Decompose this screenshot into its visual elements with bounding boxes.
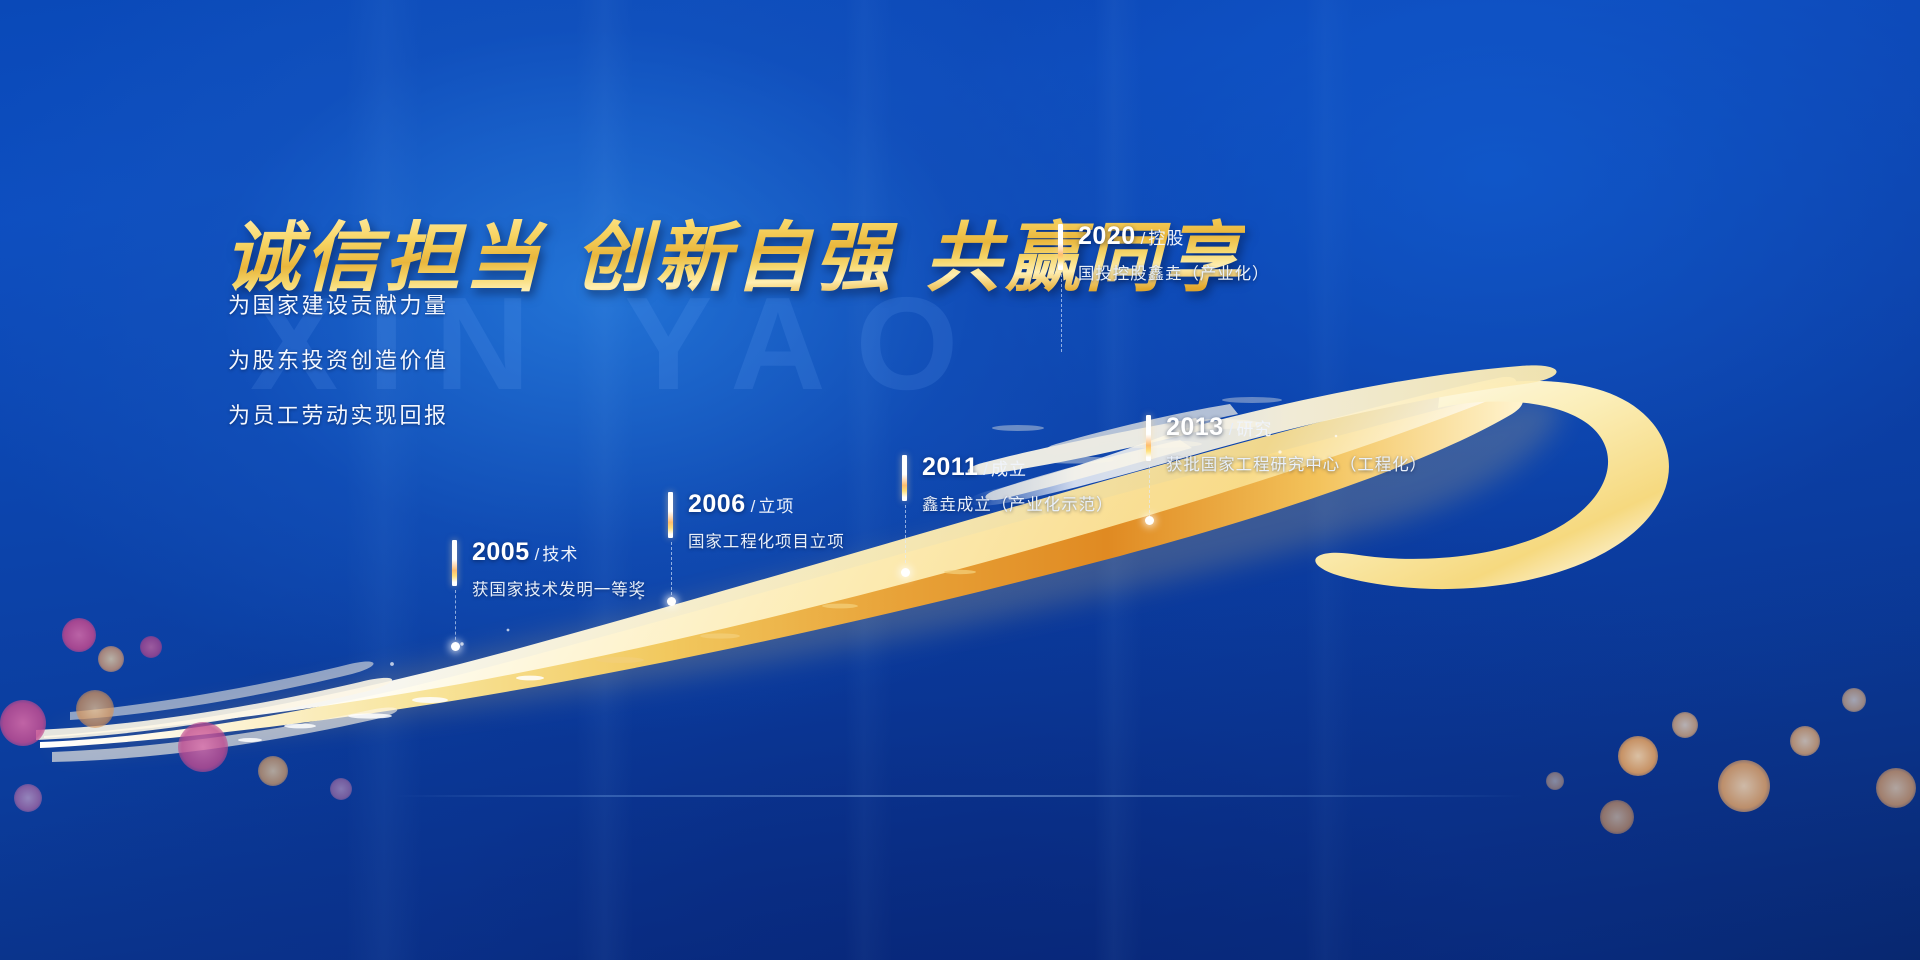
milestone-year: 2011	[922, 453, 978, 481]
milestone-accent-bar	[668, 492, 673, 538]
timeline-milestone-2020[interactable]: 2020/控股 国投控股鑫垚（产业化）	[1058, 224, 1269, 284]
milestone-tag: 立项	[758, 497, 794, 516]
milestone-leader-line	[1061, 274, 1062, 352]
bokeh-circle	[1876, 768, 1916, 808]
milestone-text: 2020/控股 国投控股鑫垚（产业化）	[1078, 224, 1269, 284]
milestone-leader-line	[905, 505, 906, 563]
milestone-separator: /	[535, 545, 540, 564]
milestone-leader-line	[1149, 465, 1150, 518]
milestone-description: 获国家技术发明一等奖	[472, 576, 646, 600]
bokeh-circle	[1618, 736, 1658, 776]
bokeh-circle	[62, 618, 96, 652]
milestone-text: 2013/研究 获批国家工程研究中心（工程化）	[1166, 415, 1427, 475]
milestone-year: 2005	[472, 538, 530, 566]
bokeh-circle	[1718, 760, 1770, 812]
bokeh-circle	[258, 756, 288, 786]
bokeh-circle	[140, 636, 162, 658]
milestone-tag: 技术	[542, 545, 578, 564]
milestone-accent-bar	[902, 455, 907, 501]
milestone-heading: 2020/控股	[1078, 224, 1269, 249]
milestone-leader-line	[455, 590, 456, 645]
milestone-accent-bar	[1058, 224, 1063, 270]
slogan-line: 为员工劳动实现回报	[228, 398, 449, 430]
timeline-milestone-2013[interactable]: 2013/研究 获批国家工程研究中心（工程化）	[1146, 415, 1427, 475]
timeline-milestone-2005[interactable]: 2005/技术 获国家技术发明一等奖	[452, 540, 646, 600]
milestone-description: 国家工程化项目立项	[688, 528, 845, 552]
bokeh-circle	[1842, 688, 1866, 712]
milestone-separator: /	[1141, 229, 1146, 248]
slogan-line: 为股东投资创造价值	[228, 343, 449, 375]
milestone-accent-bar	[1146, 415, 1151, 461]
milestone-tag: 成立	[991, 460, 1027, 479]
milestone-dot	[901, 568, 910, 577]
bokeh-circle	[0, 700, 46, 746]
bokeh-circle	[1600, 800, 1634, 834]
bokeh-circle	[76, 690, 114, 728]
milestone-leader-line	[671, 542, 672, 600]
timeline-milestone-2011[interactable]: 2011/成立 鑫垚成立（产业化示范）	[902, 455, 1113, 515]
bokeh-circle	[1672, 712, 1698, 738]
milestone-heading: 2011/成立	[922, 455, 1113, 480]
milestone-dot	[1145, 516, 1154, 525]
milestone-separator: /	[983, 460, 988, 479]
milestone-accent-bar	[452, 540, 457, 586]
bokeh-circle	[1790, 726, 1820, 756]
milestone-dot	[667, 597, 676, 606]
milestone-tag: 控股	[1148, 229, 1184, 248]
milestone-heading: 2005/技术	[472, 540, 646, 565]
bokeh-circle	[1546, 772, 1564, 790]
milestone-text: 2005/技术 获国家技术发明一等奖	[472, 540, 646, 600]
milestone-tag: 研究	[1236, 420, 1272, 439]
milestone-heading: 2006/立项	[688, 492, 845, 517]
milestone-separator: /	[1229, 420, 1234, 439]
banner-canvas: XIN YAO 诚信担当 创新自强 共赢同享 为国家建设贡献力量 为股东投资创造…	[0, 0, 1920, 960]
bokeh-circle	[178, 722, 228, 772]
milestone-text: 2011/成立 鑫垚成立（产业化示范）	[922, 455, 1113, 515]
milestone-year: 2013	[1166, 413, 1224, 441]
milestone-separator: /	[751, 497, 756, 516]
milestone-heading: 2013/研究	[1166, 415, 1427, 440]
milestone-description: 鑫垚成立（产业化示范）	[922, 491, 1113, 515]
milestone-description: 国投控股鑫垚（产业化）	[1078, 260, 1269, 284]
timeline-milestone-2006[interactable]: 2006/立项 国家工程化项目立项	[668, 492, 845, 552]
milestone-text: 2006/立项 国家工程化项目立项	[688, 492, 845, 552]
slogan-line: 为国家建设贡献力量	[228, 288, 449, 320]
horizon-divider-line	[395, 795, 1525, 797]
milestone-dot	[451, 642, 460, 651]
milestone-year: 2006	[688, 490, 746, 518]
bokeh-circle	[98, 646, 124, 672]
bokeh-circle	[14, 784, 42, 812]
slogan-list: 为国家建设贡献力量 为股东投资创造价值 为员工劳动实现回报	[228, 288, 449, 453]
milestone-description: 获批国家工程研究中心（工程化）	[1166, 451, 1427, 475]
milestone-year: 2020	[1078, 222, 1136, 250]
bokeh-circle	[330, 778, 352, 800]
